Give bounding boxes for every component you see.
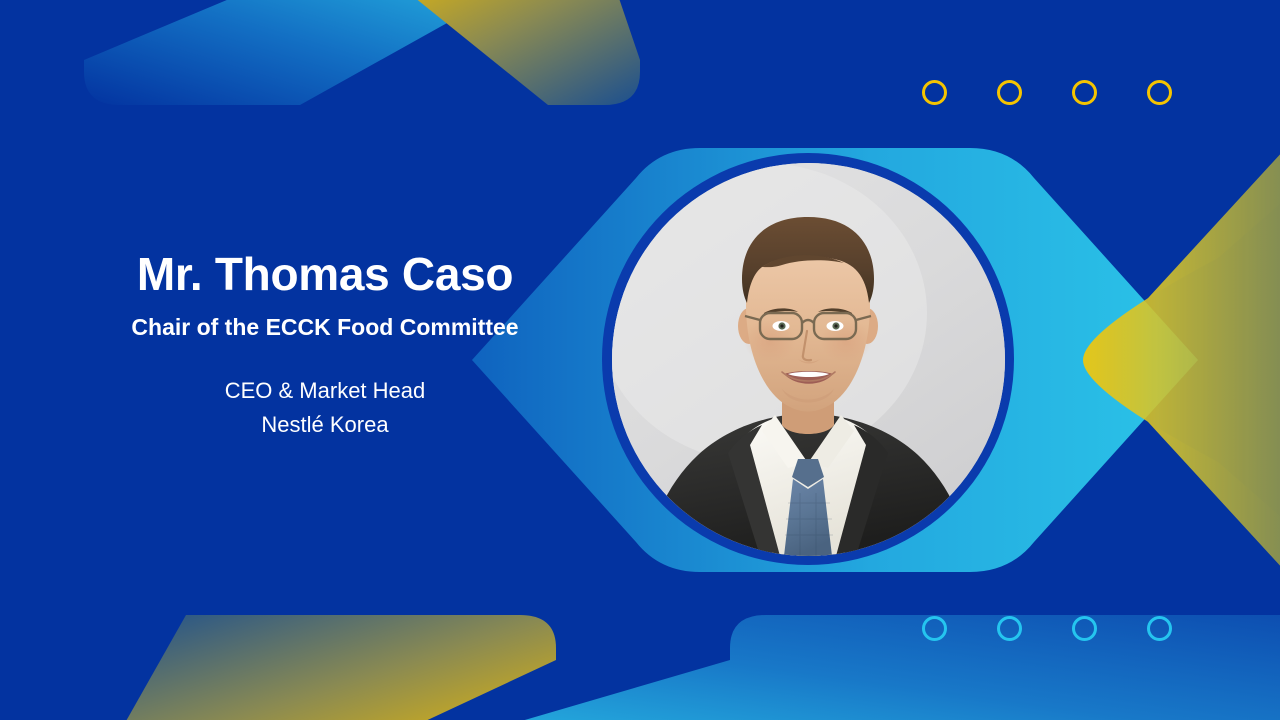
cyan-dot-icon xyxy=(997,616,1022,641)
gold-dot-icon xyxy=(922,80,947,105)
speaker-name: Mr. Thomas Caso xyxy=(40,250,610,300)
portrait-illustration xyxy=(612,163,1005,556)
gold-dot-icon xyxy=(997,80,1022,105)
cyan-dot-row xyxy=(922,616,1172,641)
cyan-dot-icon xyxy=(1147,616,1172,641)
speaker-organization: Nestlé Korea xyxy=(40,408,610,442)
gold-dot-row xyxy=(922,80,1172,105)
speaker-title-group: CEO & Market Head Nestlé Korea xyxy=(40,374,610,442)
speaker-slide: Mr. Thomas Caso Chair of the ECCK Food C… xyxy=(0,0,1280,720)
speaker-role: Chair of the ECCK Food Committee xyxy=(40,314,610,340)
cyan-dot-icon xyxy=(922,616,947,641)
speaker-job-title: CEO & Market Head xyxy=(40,374,610,408)
gold-dot-icon xyxy=(1072,80,1097,105)
gold-dot-icon xyxy=(1147,80,1172,105)
speaker-info: Mr. Thomas Caso Chair of the ECCK Food C… xyxy=(40,250,610,442)
speaker-portrait xyxy=(612,163,1005,556)
cyan-dot-icon xyxy=(1072,616,1097,641)
